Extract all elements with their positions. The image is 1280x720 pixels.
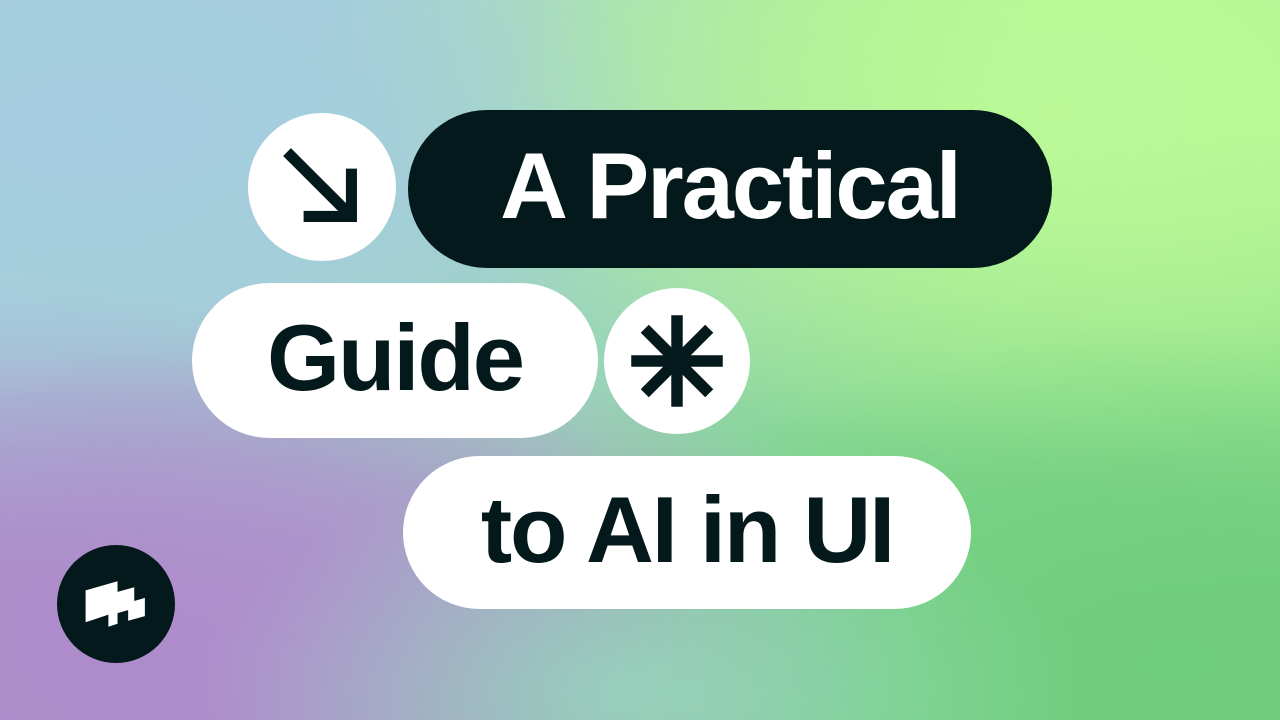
brand-logo[interactable]	[57, 545, 175, 663]
headline-line-1-text: A Practical	[500, 139, 960, 239]
brand-mark-icon	[78, 566, 154, 642]
poster-canvas: A Practical Guide to AI in UI	[0, 0, 1280, 720]
headline-line-1: A Practical	[408, 110, 1052, 268]
headline-line-2-text: Guide	[267, 311, 523, 411]
headline-line-2: Guide	[192, 283, 598, 438]
asterisk-badge	[604, 288, 750, 434]
arrow-down-right-badge	[248, 113, 396, 261]
asterisk-icon	[625, 309, 729, 413]
headline-line-3: to AI in UI	[403, 456, 971, 609]
arrow-down-right-icon	[276, 141, 368, 233]
headline-line-3-text: to AI in UI	[481, 483, 893, 583]
